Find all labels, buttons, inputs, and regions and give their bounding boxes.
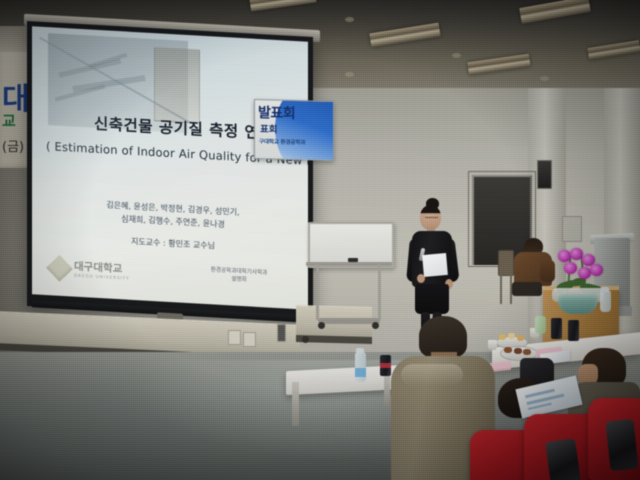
bottle-cap bbox=[601, 287, 609, 292]
orchid-bloom bbox=[570, 248, 583, 260]
wall-control-panel[interactable] bbox=[562, 216, 582, 242]
whiteboard-leg bbox=[378, 264, 381, 320]
seat-armrest bbox=[545, 438, 581, 480]
whiteboard-marker[interactable] bbox=[348, 258, 358, 262]
projection-screen: 신축건물 공기질 측정 연구 ( Estimation of Indoor Ai… bbox=[27, 21, 313, 322]
ceiling-light-fixture bbox=[587, 40, 640, 60]
ceiling-light-fixture bbox=[369, 23, 440, 48]
ceiling-light-fixture bbox=[249, 0, 316, 12]
snack-item bbox=[514, 348, 522, 354]
whiteboard-base bbox=[318, 318, 380, 324]
slide-advisor: 지도교수 : 황민조 교수님 bbox=[42, 231, 304, 257]
ceiling-vent bbox=[540, 76, 549, 81]
bottle-label bbox=[355, 368, 366, 377]
orchid-pot bbox=[558, 294, 598, 314]
beverage-can[interactable] bbox=[568, 320, 579, 341]
slide-credit: 환경공학과대학기사학과 설명회 bbox=[184, 265, 294, 287]
bottle-cap bbox=[356, 348, 364, 353]
wall-speaker-icon bbox=[537, 160, 552, 189]
snack-item bbox=[517, 335, 524, 341]
ceiling-light-fixture bbox=[467, 54, 530, 76]
water-bottle[interactable] bbox=[355, 352, 366, 382]
power-outlet[interactable] bbox=[228, 330, 241, 345]
photo-scene: 대 교 (금) 신축건물 공기질 측정 연구 ( Estimation of I… bbox=[0, 0, 640, 480]
slide-authors: 김은혜, 윤성은, 박정현, 김경우, 성민기, 심재희, 김행수, 주연준, … bbox=[42, 195, 304, 236]
logo-diamond-icon bbox=[46, 255, 73, 282]
whiteboard-leg bbox=[316, 264, 319, 320]
seated-attendee-lap bbox=[512, 282, 542, 296]
poster-date-note: (금) bbox=[2, 136, 24, 155]
presenter-glasses bbox=[425, 217, 438, 221]
snack-item bbox=[508, 333, 515, 339]
slide-photo-inset bbox=[154, 47, 200, 124]
whiteboard-caster bbox=[372, 322, 379, 329]
seat-armrest bbox=[605, 419, 638, 472]
slide-surface: 신축건물 공기질 측정 연구 ( Estimation of Indoor Ai… bbox=[32, 26, 308, 309]
beverage-can[interactable] bbox=[551, 318, 562, 339]
whiteboard-caster bbox=[318, 322, 325, 329]
poster-sub-char: 교 bbox=[2, 110, 16, 131]
banner-department: 구대학교 환경공학과 bbox=[259, 137, 305, 146]
orchid-bloom bbox=[590, 264, 603, 276]
banner-subline: 표회 bbox=[260, 121, 277, 135]
snack-item bbox=[499, 334, 506, 340]
banner-headline: 발표회 bbox=[258, 102, 295, 123]
whiteboard-caster bbox=[302, 336, 309, 343]
university-logo: 대구대학교 DAEGU UNIVERSITY bbox=[50, 258, 130, 281]
ceiling-vent bbox=[345, 72, 354, 77]
orchid-bloom bbox=[558, 250, 571, 262]
jacket-highlight bbox=[401, 364, 463, 386]
presenter-left-hand bbox=[417, 274, 425, 283]
ceiling-light-fixture bbox=[519, 0, 591, 24]
event-banner: 발표회 표회 구대학교 환경공학과 bbox=[254, 99, 334, 161]
ceiling-vent bbox=[452, 53, 461, 58]
snack-item bbox=[504, 347, 512, 353]
ceiling-vent bbox=[345, 17, 354, 22]
snack-item bbox=[523, 349, 531, 355]
drink-bottle[interactable] bbox=[535, 316, 546, 334]
cable-port[interactable] bbox=[277, 324, 286, 342]
power-outlet[interactable] bbox=[243, 332, 256, 347]
presenter-papers bbox=[422, 253, 448, 277]
chair-leg bbox=[500, 274, 502, 304]
water-bottle[interactable] bbox=[600, 290, 611, 312]
presenter-skirt bbox=[415, 284, 449, 314]
table-leg bbox=[292, 382, 299, 426]
orchid-bloom bbox=[564, 262, 577, 274]
